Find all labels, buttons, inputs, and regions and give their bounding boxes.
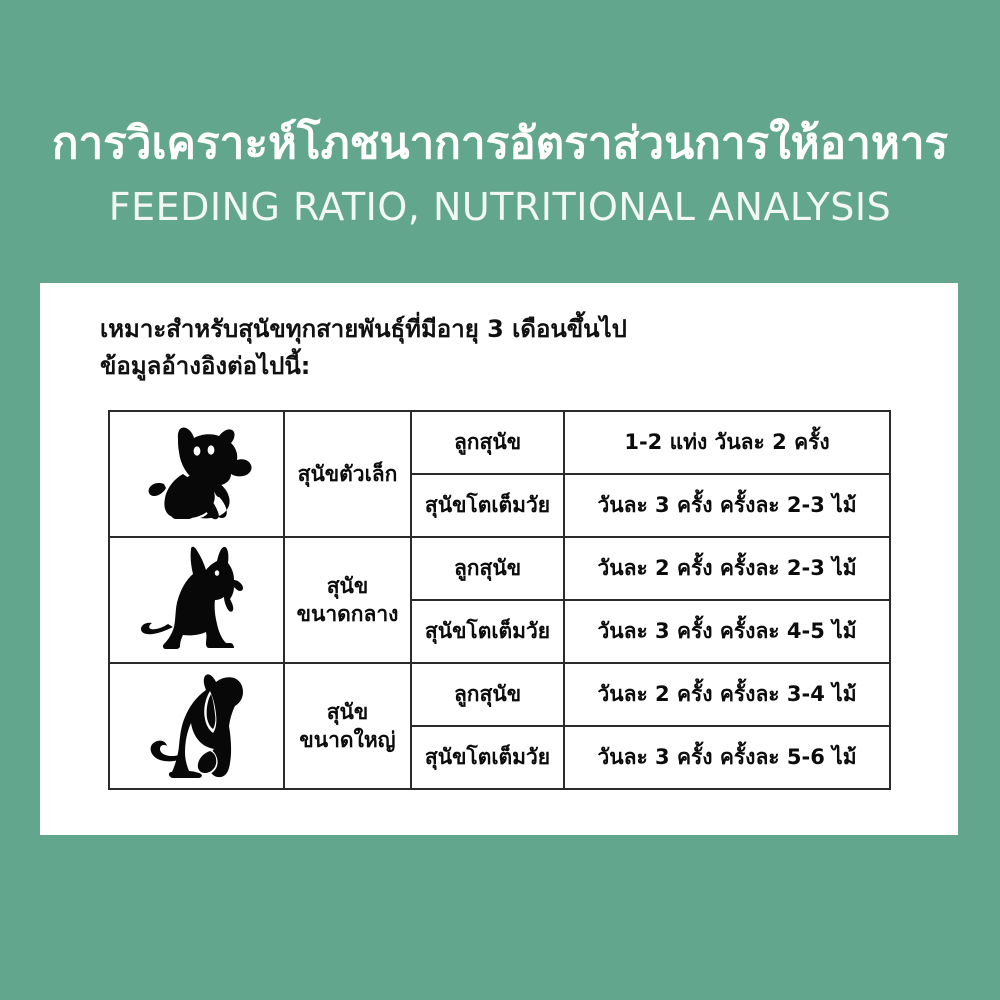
- life-stage-label: ลูกสุนัข: [411, 537, 564, 600]
- large-dog-icon: [133, 668, 261, 784]
- dog-size-label-medium: สุนัข ขนาดกลาง: [284, 537, 411, 663]
- life-stage-label: สุนัขโตเต็มวัย: [411, 474, 564, 537]
- table-row: สุนัข ขนาดใหญ่ ลูกสุนัข วันละ 2 ครั้ง คร…: [109, 663, 890, 726]
- page-title-thai: การวิเคราะห์โภชนาการอัตราส่วนการให้อาหาร: [0, 118, 1000, 170]
- size-label-line-1: สุนัข: [285, 698, 410, 726]
- size-label-line-2: ขนาดใหญ่: [285, 726, 410, 754]
- dog-icon-cell-small: [109, 411, 284, 537]
- feeding-amount: วันละ 3 ครั้ง ครั้งละ 4-5 ไม้: [564, 600, 890, 663]
- table-row: สุนัข ขนาดกลาง ลูกสุนัข วันละ 2 ครั้ง คร…: [109, 537, 890, 600]
- size-label-line-1: สุนัขตัวเล็ก: [285, 460, 410, 488]
- medium-dog-icon: [133, 544, 261, 656]
- content-card: เหมาะสำหรับสุนัขทุกสายพันธุ์ที่มีอายุ 3 …: [40, 283, 958, 835]
- feeding-ratio-table: สุนัขตัวเล็ก ลูกสุนัข 1-2 แท่ง วันละ 2 ค…: [108, 410, 891, 790]
- page-subtitle-english: FEEDING RATIO, NUTRITIONAL ANALYSIS: [0, 184, 1000, 232]
- page-header: การวิเคราะห์โภชนาการอัตราส่วนการให้อาหาร…: [0, 0, 1000, 231]
- life-stage-label: ลูกสุนัข: [411, 663, 564, 726]
- feeding-amount: 1-2 แท่ง วันละ 2 ครั้ง: [564, 411, 890, 474]
- feeding-amount: วันละ 3 ครั้ง ครั้งละ 2-3 ไม้: [564, 474, 890, 537]
- life-stage-label: ลูกสุนัข: [411, 411, 564, 474]
- intro-line-1: เหมาะสำหรับสุนัขทุกสายพันธุ์ที่มีอายุ 3 …: [100, 311, 627, 348]
- dog-icon-cell-medium: [109, 537, 284, 663]
- size-label-line-1: สุนัข: [285, 572, 410, 600]
- life-stage-label: สุนัขโตเต็มวัย: [411, 600, 564, 663]
- feeding-amount: วันละ 3 ครั้ง ครั้งละ 5-6 ไม้: [564, 726, 890, 789]
- feeding-amount: วันละ 2 ครั้ง ครั้งละ 2-3 ไม้: [564, 537, 890, 600]
- life-stage-label: สุนัขโตเต็มวัย: [411, 726, 564, 789]
- intro-text: เหมาะสำหรับสุนัขทุกสายพันธุ์ที่มีอายุ 3 …: [100, 311, 627, 385]
- feeding-amount: วันละ 2 ครั้ง ครั้งละ 3-4 ไม้: [564, 663, 890, 726]
- dog-size-label-large: สุนัข ขนาดใหญ่: [284, 663, 411, 789]
- small-dog-icon: [133, 422, 261, 526]
- intro-line-2: ข้อมูลอ้างอิงต่อไปนี้:: [100, 348, 627, 385]
- table-row: สุนัขตัวเล็ก ลูกสุนัข 1-2 แท่ง วันละ 2 ค…: [109, 411, 890, 474]
- size-label-line-2: ขนาดกลาง: [285, 600, 410, 628]
- dog-size-label-small: สุนัขตัวเล็ก: [284, 411, 411, 537]
- dog-icon-cell-large: [109, 663, 284, 789]
